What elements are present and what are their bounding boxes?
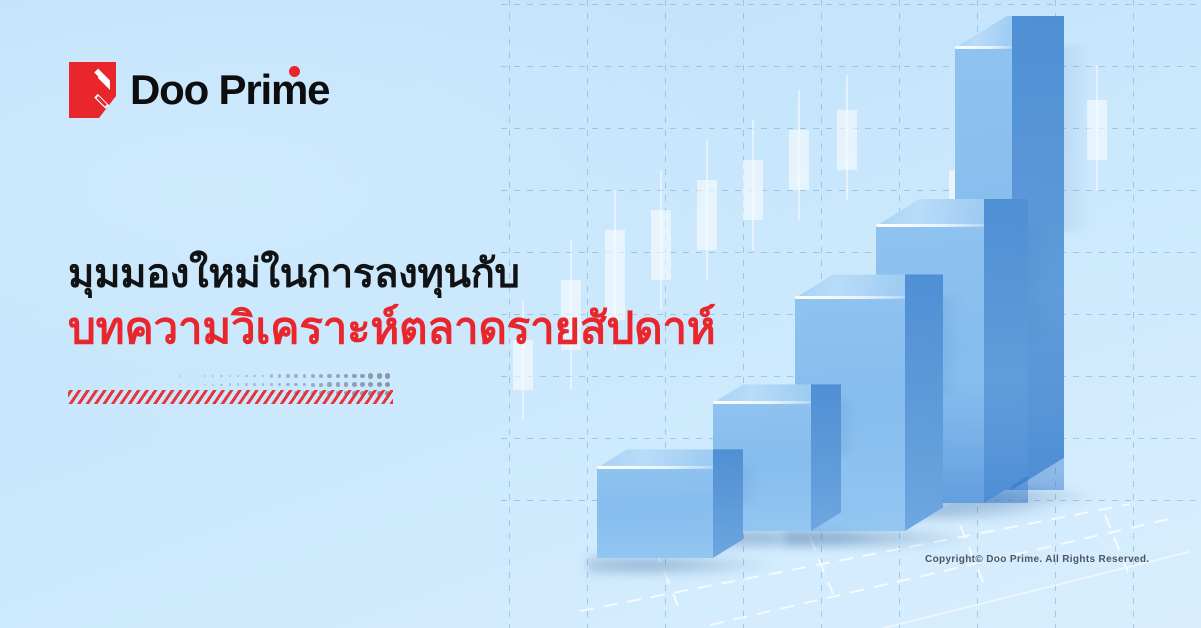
deco-dot [352, 382, 357, 387]
deco-dot [179, 384, 180, 385]
deco-dot [278, 374, 281, 377]
deco-dot [229, 383, 231, 385]
deco-dot [319, 374, 323, 378]
deco-dot [245, 375, 248, 378]
deco-dot [270, 374, 273, 377]
deco-dot [204, 384, 206, 386]
bar-top-highlight [876, 224, 984, 227]
deco-dot [262, 383, 265, 386]
headline-block: มุมมองใหม่ในการลงทุนกับ บทความวิเคราะห์ต… [68, 250, 768, 356]
bar-top-highlight [955, 46, 1012, 49]
deco-dot [385, 382, 390, 387]
deco-dot [245, 383, 248, 386]
deco-dot [360, 374, 365, 379]
deco-dot [262, 375, 265, 378]
deco-dot [377, 373, 382, 378]
headline-line-1: มุมมองใหม่ในการลงทุนกับ [68, 250, 768, 299]
doo-prime-logo-mark [69, 62, 116, 118]
bar-1 [597, 468, 713, 558]
deco-dot [220, 384, 222, 386]
deco-dot [303, 374, 307, 378]
deco-dot [179, 375, 180, 376]
deco-dot [188, 375, 189, 376]
deco-dot [212, 384, 214, 386]
deco-dot [303, 383, 307, 387]
logo-accent-dot [289, 66, 300, 77]
deco-dot [327, 382, 331, 386]
deco-dot [311, 374, 315, 378]
deco-dot [196, 384, 198, 386]
deco-dot [253, 375, 256, 378]
deco-dot [237, 375, 239, 377]
deco-dot [286, 374, 289, 377]
bar-top-highlight [713, 401, 811, 404]
deco-dot [204, 375, 206, 377]
deco-dot [352, 374, 357, 379]
brand-logo[interactable]: Doo Prime [69, 62, 329, 118]
deco-dot [336, 374, 340, 378]
bar-side-face [811, 384, 841, 531]
deco-dot [360, 382, 365, 387]
copyright-text: Copyright© Doo Prime. All Rights Reserve… [925, 554, 1150, 565]
deco-dot [377, 382, 382, 387]
deco-dot [368, 382, 373, 387]
deco-dot [294, 383, 298, 387]
deco-dot [368, 373, 373, 378]
red-diagonal-stripe-bar [68, 390, 393, 404]
bar-top-highlight [795, 296, 905, 299]
deco-dot [237, 383, 239, 385]
deco-dot [344, 382, 349, 387]
bar-top-face [876, 199, 984, 226]
deco-dot [212, 375, 214, 377]
deco-dot [196, 375, 198, 377]
deco-dot [327, 374, 331, 378]
deco-dot [220, 375, 222, 377]
deco-dot [286, 383, 289, 386]
bar-side-face [713, 449, 743, 558]
bar-front-face [597, 468, 713, 558]
deco-dot [344, 374, 349, 379]
bar-top-face [795, 274, 905, 298]
logo-wordmark: Doo Prime [130, 69, 329, 111]
bar-top-highlight [597, 466, 713, 469]
deco-dot [188, 384, 189, 385]
headline-line-2: บทความวิเคราะห์ตลาดรายสัปดาห์ [68, 301, 768, 356]
deco-dot [229, 375, 231, 377]
deco-dot [270, 383, 273, 386]
deco-dot [278, 383, 281, 386]
deco-dot [294, 374, 298, 378]
bar-top-face [955, 16, 1012, 48]
banner-root: Doo Prime มุมมองใหม่ในการลงทุนกับ บทความ… [0, 0, 1201, 628]
deco-dot [336, 382, 340, 386]
bar-side-face [905, 274, 943, 531]
deco-dot [319, 383, 323, 387]
deco-dot [253, 383, 256, 386]
deco-dot [385, 373, 390, 378]
deco-dot [311, 383, 315, 387]
